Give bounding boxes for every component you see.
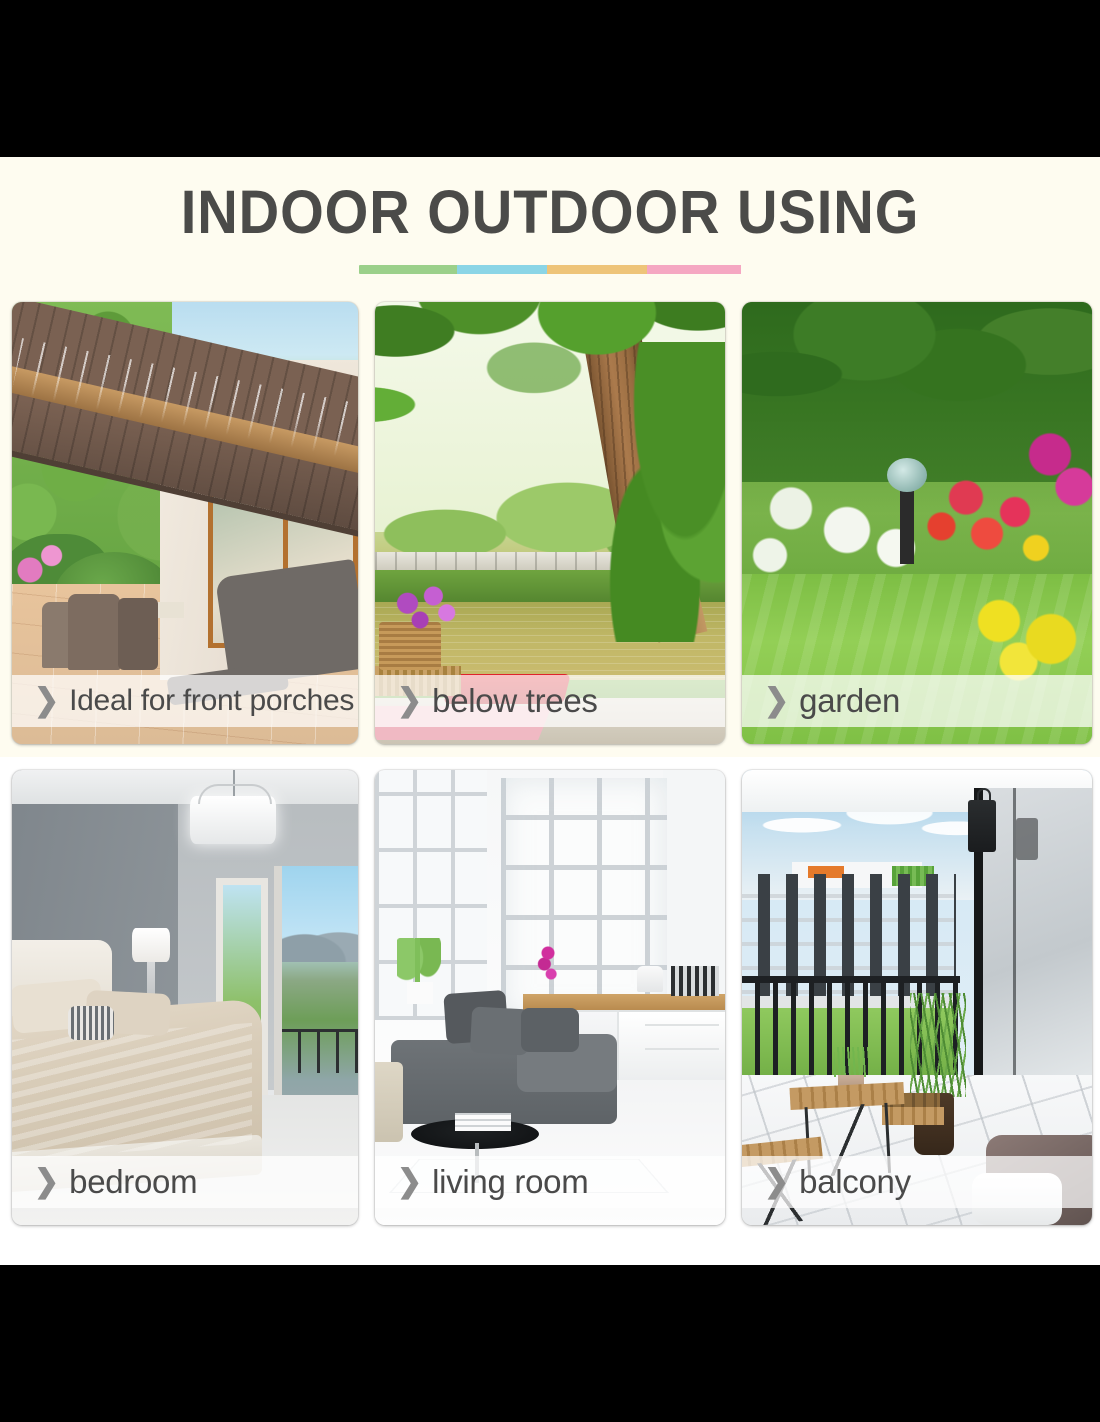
poster-header: INDOOR OUTDOOR USING	[0, 157, 1100, 274]
caption-label: below trees	[432, 682, 597, 720]
caption-bedroom: ❯ bedroom	[12, 1156, 358, 1208]
divider-segment-blue	[457, 265, 547, 274]
chevron-right-icon: ❯	[34, 685, 59, 717]
caption-label: Ideal for front porches	[69, 684, 354, 718]
caption-front-porch: ❯ Ideal for front porches	[12, 675, 358, 727]
caption-garden: ❯ garden	[742, 675, 1092, 727]
poster-page: INDOOR OUTDOOR USING	[0, 0, 1100, 1422]
usage-card-bedroom[interactable]: ❯ bedroom	[12, 770, 358, 1225]
divider-segment-pink	[647, 265, 742, 274]
usage-card-balcony[interactable]: ❯ balcony	[742, 770, 1092, 1225]
usage-card-below-trees[interactable]: ❯ below trees	[375, 302, 725, 744]
caption-label: balcony	[799, 1163, 911, 1201]
usage-card-front-porch[interactable]: ❯ Ideal for front porches	[12, 302, 358, 744]
chevron-right-icon: ❯	[397, 1166, 422, 1198]
divider-segment-green	[359, 265, 458, 274]
color-divider	[359, 265, 742, 274]
usage-card-grid: ❯ Ideal for front porches ❯ below trees	[12, 302, 1088, 1225]
letterbox-top	[0, 0, 1100, 157]
caption-balcony: ❯ balcony	[742, 1156, 1092, 1208]
page-title: INDOOR OUTDOOR USING	[44, 177, 1056, 247]
caption-below-trees: ❯ below trees	[375, 675, 725, 727]
letterbox-bottom	[0, 1265, 1100, 1422]
usage-card-garden[interactable]: ❯ garden	[742, 302, 1092, 744]
caption-label: bedroom	[69, 1163, 197, 1201]
chevron-right-icon: ❯	[764, 1166, 789, 1198]
divider-segment-orange	[547, 265, 647, 274]
usage-card-living-room[interactable]: ❯ living room	[375, 770, 725, 1225]
caption-living-room: ❯ living room	[375, 1156, 725, 1208]
caption-label: garden	[799, 682, 900, 720]
caption-label: living room	[432, 1163, 588, 1201]
poster-canvas: INDOOR OUTDOOR USING	[0, 157, 1100, 1265]
chevron-right-icon: ❯	[397, 685, 422, 717]
chevron-right-icon: ❯	[764, 685, 789, 717]
chevron-right-icon: ❯	[34, 1166, 59, 1198]
